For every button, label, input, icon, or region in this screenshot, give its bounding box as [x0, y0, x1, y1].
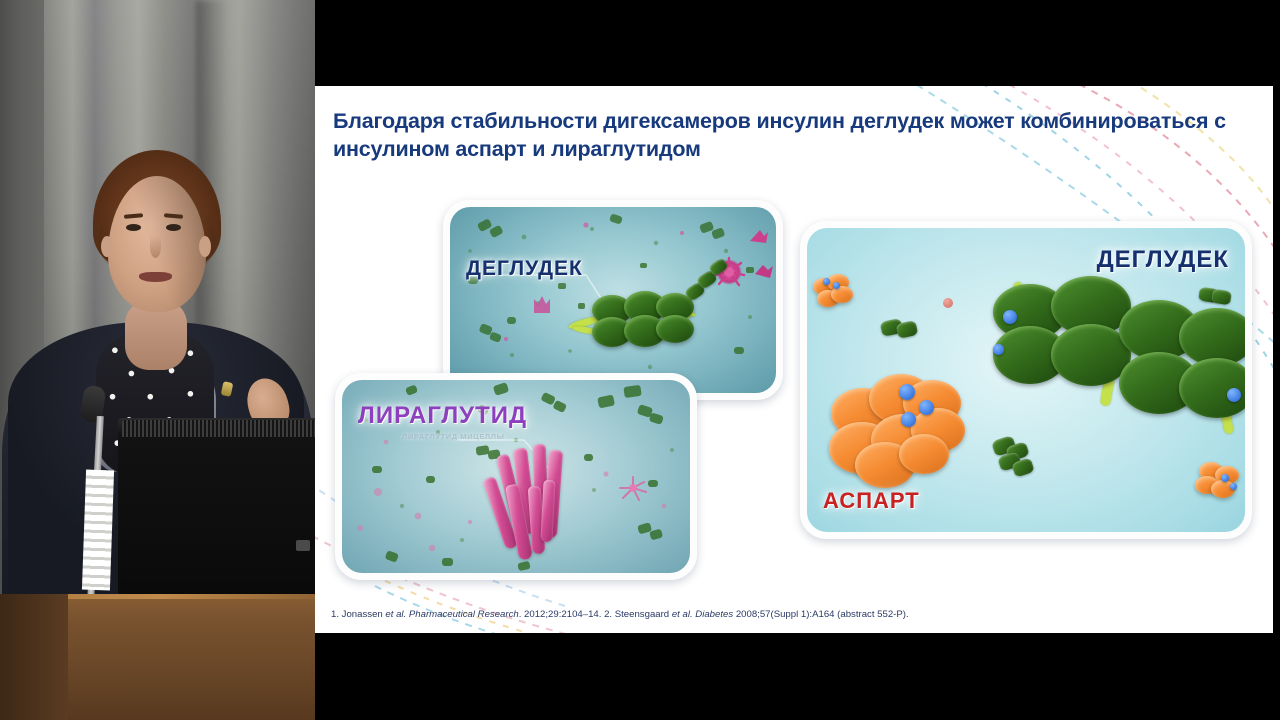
citation-segment-2: . 2012;29:2104–14. 2. Steensgaard	[519, 609, 672, 620]
camera-feed-speaker	[0, 0, 315, 720]
projected-slide: Благодаря стабильности дигексамеров инсу…	[315, 86, 1273, 633]
panel-caption-aspart: АСПАРТ	[823, 488, 920, 514]
video-player-stage: Благодаря стабильности дигексамеров инсу…	[0, 0, 1280, 720]
panel-degludec-dihexamer: ДЕГЛУДЕК	[443, 200, 783, 400]
podium-side-panel	[0, 594, 68, 720]
citation-journal-2: et al. Diabetes	[672, 609, 733, 620]
panel-caption-liraglutide: ЛИРАГЛУТИД	[358, 402, 527, 430]
speaker-ear-left	[101, 236, 113, 257]
podium-desk	[0, 594, 315, 720]
panel-combination-image: ДЕГЛУДЕК АСПАРТ	[807, 228, 1245, 532]
pink-arrow-particle	[748, 227, 770, 249]
monitor-vent-grille	[122, 420, 315, 437]
speaker-eye-left	[126, 224, 141, 231]
panel-subcaption-liraglutide: ЛИРАГЛУТИД МИЦЕЛЛЫ	[402, 432, 505, 441]
panel-liraglutide-image: ЛИРАГЛУТИД ЛИРАГЛУТИД МИЦЕЛЛЫ	[342, 380, 690, 573]
podium-monitor	[118, 418, 315, 594]
speaker-eye-right	[166, 224, 181, 231]
panel-caption-degludec: ДЕГЛУДЕК	[466, 257, 583, 281]
panel-caption-degludec-combination: ДЕГЛУДЕК	[1097, 246, 1229, 274]
panel-liraglutide: ЛИРАГЛУТИД ЛИРАГЛУТИД МИЦЕЛЛЫ	[335, 373, 697, 580]
paper-notes	[82, 470, 114, 591]
pink-burst-icon	[618, 474, 648, 502]
panel-degludec-aspart-combination: ДЕГЛУДЕК АСПАРТ	[800, 221, 1252, 539]
speaker-mouth	[139, 272, 172, 282]
pink-flake-particle	[754, 263, 774, 281]
speaker-ear-right	[199, 236, 211, 257]
citation-segment-1: 1. Jonassen	[331, 609, 385, 620]
citation-footnote: 1. Jonassen et al. Pharmaceutical Resear…	[331, 609, 1261, 621]
speaker-nose	[150, 236, 161, 258]
citation-segment-3: 2008;57(Suppl 1):A164 (abstract 552-P).	[733, 609, 908, 620]
panel-degludec-image: ДЕГЛУДЕК	[450, 207, 776, 393]
page-title: Благодаря стабильности дигексамеров инсу…	[333, 108, 1253, 163]
citation-journal-1: et al. Pharmaceutical Research	[385, 609, 518, 620]
monitor-power-button	[296, 540, 310, 551]
pink-dot-particle	[943, 298, 953, 308]
